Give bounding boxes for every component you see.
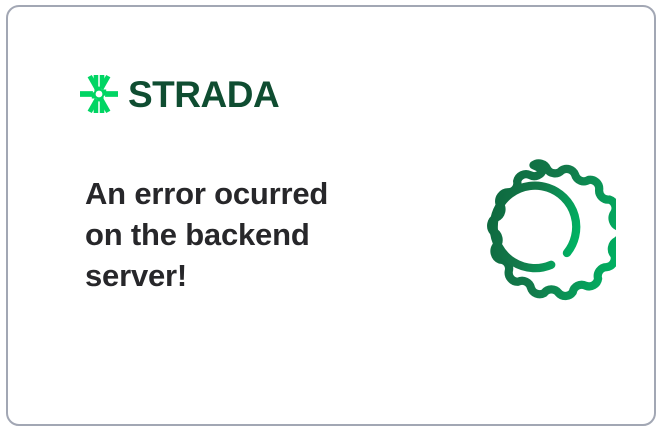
strada-asterisk-icon	[80, 75, 118, 113]
brand-wordmark: STRADA	[128, 76, 279, 113]
error-screen: STRADA An error ocurred on the backend s…	[0, 0, 666, 436]
error-message-line-3: server!	[85, 255, 385, 296]
gear-cog-icon	[451, 147, 616, 312]
error-message: An error ocurred on the backend server!	[85, 173, 385, 296]
error-card: STRADA An error ocurred on the backend s…	[6, 5, 656, 426]
error-message-line-2: on the backend	[85, 214, 385, 255]
brand-lockup: STRADA	[80, 75, 279, 113]
error-message-line-1: An error ocurred	[85, 173, 385, 214]
